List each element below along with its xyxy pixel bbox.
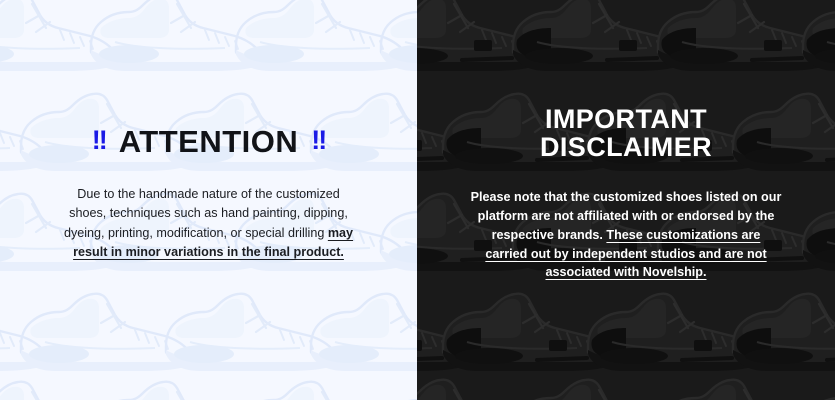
- attention-title: ATTENTION: [119, 126, 299, 157]
- disclaimer-heading-line-1: IMPORTANT: [540, 105, 712, 133]
- disclaimer-banner: !! ATTENTION !! Due to the handmade natu…: [0, 0, 835, 400]
- disclaimer-body: Please note that the customized shoes li…: [470, 188, 782, 282]
- attention-panel: !! ATTENTION !! Due to the handmade natu…: [0, 0, 417, 400]
- attention-content: !! ATTENTION !! Due to the handmade natu…: [0, 0, 417, 400]
- disclaimer-heading: IMPORTANT DISCLAIMER: [540, 105, 712, 161]
- double-exclamation-left-icon: !!: [92, 127, 106, 154]
- attention-heading: !! ATTENTION !!: [92, 126, 326, 157]
- disclaimer-content: IMPORTANT DISCLAIMER Please note that th…: [417, 0, 835, 400]
- attention-body: Due to the handmade nature of the custom…: [59, 185, 359, 262]
- disclaimer-heading-line-2: DISCLAIMER: [540, 133, 712, 161]
- attention-body-normal: Due to the handmade nature of the custom…: [64, 187, 348, 239]
- disclaimer-panel: IMPORTANT DISCLAIMER Please note that th…: [417, 0, 835, 400]
- double-exclamation-right-icon: !!: [311, 127, 325, 154]
